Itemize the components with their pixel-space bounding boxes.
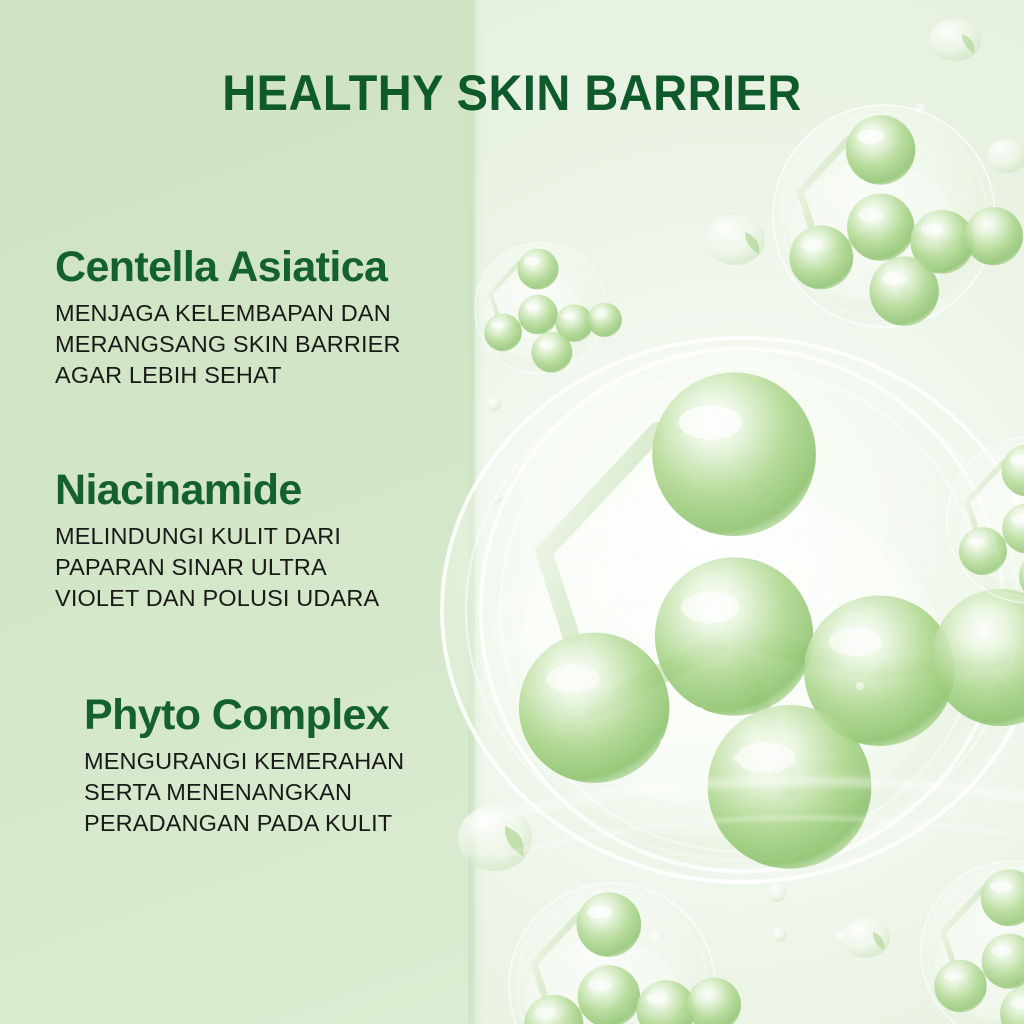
ingredient-item-phyto-complex: Phyto Complex MENGURANGI KEMERAHAN SERTA…	[84, 693, 404, 839]
ingredient-description: MELINDUNGI KULIT DARI PAPARAN SINAR ULTR…	[55, 521, 379, 614]
ingredient-name: Centella Asiatica	[55, 245, 401, 290]
poster-canvas: HEALTHY SKIN BARRIER Centella Asiatica M…	[0, 0, 1024, 1024]
ingredient-description: MENJAGA KELEMBAPAN DAN MERANGSANG SKIN B…	[55, 298, 401, 391]
ingredient-item-niacinamide: Niacinamide MELINDUNGI KULIT DARI PAPARA…	[55, 468, 379, 614]
ingredient-name: Phyto Complex	[84, 693, 404, 738]
ingredient-item-centella-asiatica: Centella Asiatica MENJAGA KELEMBAPAN DAN…	[55, 245, 401, 391]
ingredient-name: Niacinamide	[55, 468, 379, 513]
ingredient-description: MENGURANGI KEMERAHAN SERTA MENENANGKAN P…	[84, 746, 404, 839]
ingredient-list: Centella Asiatica MENJAGA KELEMBAPAN DAN…	[0, 0, 475, 1024]
